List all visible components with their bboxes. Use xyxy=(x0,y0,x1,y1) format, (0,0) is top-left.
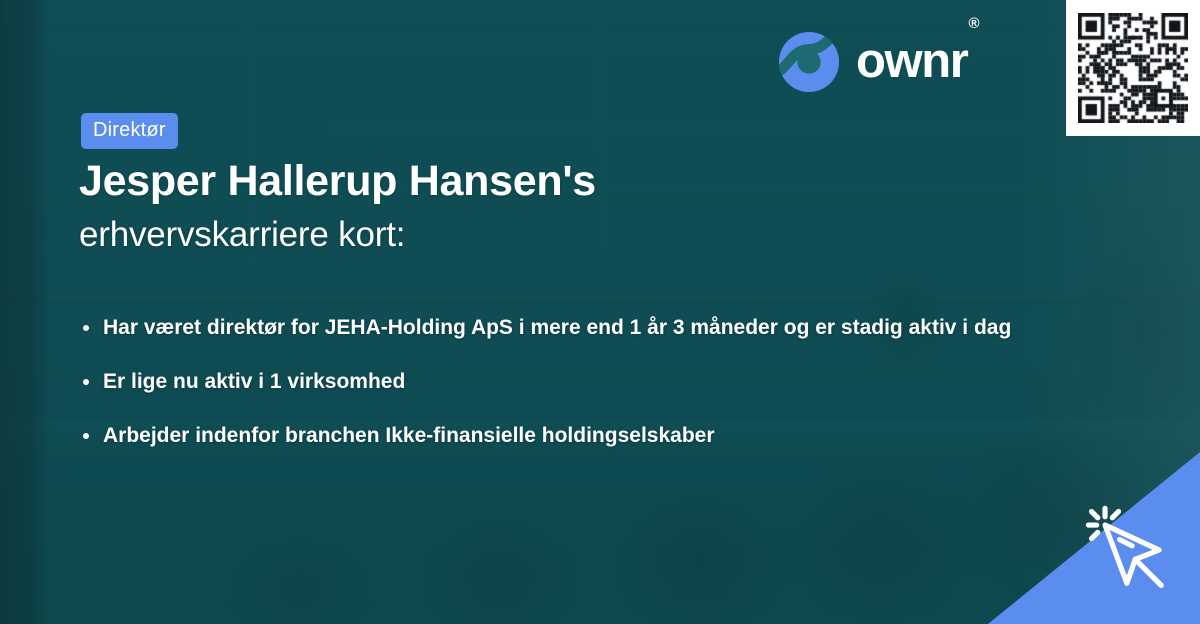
ownr-circle-swirl-icon xyxy=(778,31,840,93)
brand-logo: ownr ® xyxy=(778,31,979,93)
fact-text: Er lige nu aktiv i 1 virksomhed xyxy=(103,370,405,393)
qr-code-icon[interactable] xyxy=(1078,13,1188,123)
page-subtitle: erhvervskarriere kort: xyxy=(79,214,405,256)
bullet-icon xyxy=(83,325,89,331)
bullet-icon xyxy=(83,433,89,439)
page-title: Jesper Hallerup Hansen's xyxy=(79,157,596,205)
list-item: Er lige nu aktiv i 1 virksomhed xyxy=(79,366,1039,398)
role-badge: Direktør xyxy=(81,113,178,149)
list-item: Har været direktør for JEHA-Holding ApS … xyxy=(79,312,1039,344)
qr-code-panel[interactable] xyxy=(1066,0,1200,136)
click-cursor-icon xyxy=(1078,498,1182,602)
card-content: Direktør Jesper Hallerup Hansen's erhver… xyxy=(0,0,1200,624)
registered-trademark-icon: ® xyxy=(968,16,979,31)
fact-text: Har været direktør for JEHA-Holding ApS … xyxy=(103,316,1011,339)
fact-text: Arbejder indenfor branchen Ikke-finansie… xyxy=(103,424,715,447)
bullet-icon xyxy=(83,379,89,385)
list-item: Arbejder indenfor branchen Ikke-finansie… xyxy=(79,420,1039,452)
business-career-card: Direktør Jesper Hallerup Hansen's erhver… xyxy=(0,0,1200,624)
logo-wordmark: ownr xyxy=(856,37,967,86)
career-fact-list: Har været direktør for JEHA-Holding ApS … xyxy=(79,312,1039,452)
